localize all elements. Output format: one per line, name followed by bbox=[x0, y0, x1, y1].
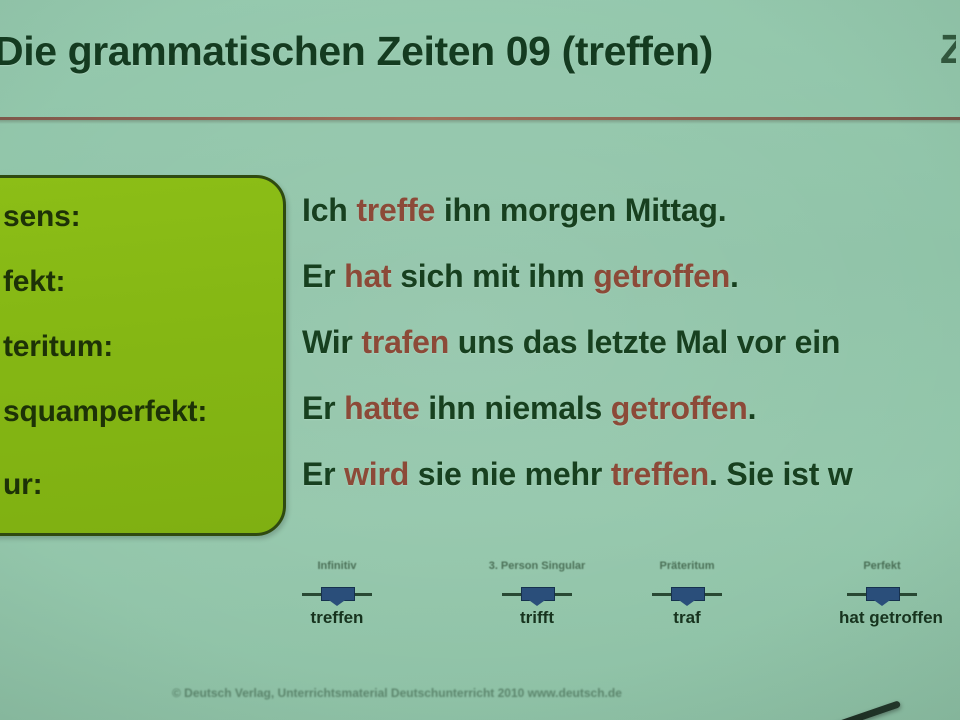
sentence-row: Er hat sich mit ihm getroffen. bbox=[302, 256, 960, 322]
down-arrow-icon bbox=[502, 586, 572, 606]
diagram-category-label: Infinitiv bbox=[262, 560, 412, 586]
highlighted-verb: treffe bbox=[356, 192, 435, 228]
sentence-text: ihn niemals bbox=[420, 390, 611, 426]
diagram-category-label: 3. Person Singular bbox=[462, 560, 612, 586]
page-title: Die grammatischen Zeiten 09 (treffen) bbox=[0, 28, 713, 75]
sentence-row: Wir trafen uns das letzte Mal vor ein bbox=[302, 322, 960, 388]
highlighted-participle: getroffen bbox=[611, 390, 748, 426]
diagram-word: trifft bbox=[462, 608, 612, 628]
tense-label-futur: ur: bbox=[3, 468, 42, 502]
example-sentences: Ich treffe ihn morgen Mittag. Er hat sic… bbox=[302, 190, 960, 520]
sentence-text: . bbox=[730, 258, 739, 294]
diagram-word: treffen bbox=[262, 608, 412, 628]
sentence-row: Er wird sie nie mehr treffen. Sie ist w bbox=[302, 454, 960, 520]
footer-copyright: © Deutsch Verlag, Unterrichtsmaterial De… bbox=[172, 686, 622, 700]
highlighted-verb: wird bbox=[344, 456, 409, 492]
sentence-row: Ich treffe ihn morgen Mittag. bbox=[302, 190, 960, 256]
sentence-text: Wir bbox=[302, 324, 361, 360]
sentence-text: sich mit ihm bbox=[392, 258, 594, 294]
highlighted-verb: hatte bbox=[344, 390, 419, 426]
header-divider-shadow bbox=[0, 120, 960, 124]
tense-label-praesens: sens: bbox=[3, 200, 80, 234]
tense-label-plusquamperfekt: squamperfekt: bbox=[3, 395, 207, 429]
diagram-column-praeteritum: Präteritum traf bbox=[612, 560, 762, 628]
diagram-category-label: Präteritum bbox=[612, 560, 762, 586]
highlighted-verb: trafen bbox=[361, 324, 449, 360]
highlighted-verb: hat bbox=[344, 258, 391, 294]
diagram-word: hat getroffen bbox=[825, 608, 957, 628]
tense-label-perfekt: fekt: bbox=[3, 265, 65, 299]
sentence-text: . Sie ist w bbox=[709, 456, 853, 492]
sentence-text: uns das letzte Mal vor ein bbox=[449, 324, 840, 360]
sentence-text: sie nie mehr bbox=[409, 456, 611, 492]
highlighted-participle: getroffen bbox=[593, 258, 730, 294]
sentence-text: Er bbox=[302, 390, 344, 426]
diagram-word: traf bbox=[612, 608, 762, 628]
conjugation-diagram: Infinitiv treffen 3. Person Singular tri… bbox=[262, 560, 960, 652]
sentence-text: Er bbox=[302, 456, 344, 492]
diagram-column-person-singular: 3. Person Singular trifft bbox=[462, 560, 612, 628]
down-arrow-icon bbox=[652, 586, 722, 606]
sentence-text: Er bbox=[302, 258, 344, 294]
sentence-text: . bbox=[748, 390, 757, 426]
down-arrow-icon bbox=[302, 586, 372, 606]
diagram-column-infinitiv: Infinitiv treffen bbox=[262, 560, 412, 628]
sentence-row: Er hatte ihn niemals getroffen. bbox=[302, 388, 960, 454]
sentence-text: ihn morgen Mittag. bbox=[435, 192, 726, 228]
highlighted-infinitive: treffen bbox=[611, 456, 709, 492]
down-arrow-icon bbox=[847, 586, 917, 606]
screenshot-root: Die grammatischen Zeiten 09 (treffen) Z … bbox=[0, 0, 960, 720]
diagram-column-perfekt: Perfekt hat getroffen bbox=[807, 560, 957, 628]
page-title-right-fragment: Z bbox=[940, 26, 956, 73]
sentence-text: Ich bbox=[302, 192, 356, 228]
diagram-category-label: Perfekt bbox=[807, 560, 957, 586]
tense-label-praeteritum: teritum: bbox=[3, 330, 113, 364]
tense-label-box: sens: fekt: teritum: squamperfekt: ur: bbox=[0, 175, 286, 536]
